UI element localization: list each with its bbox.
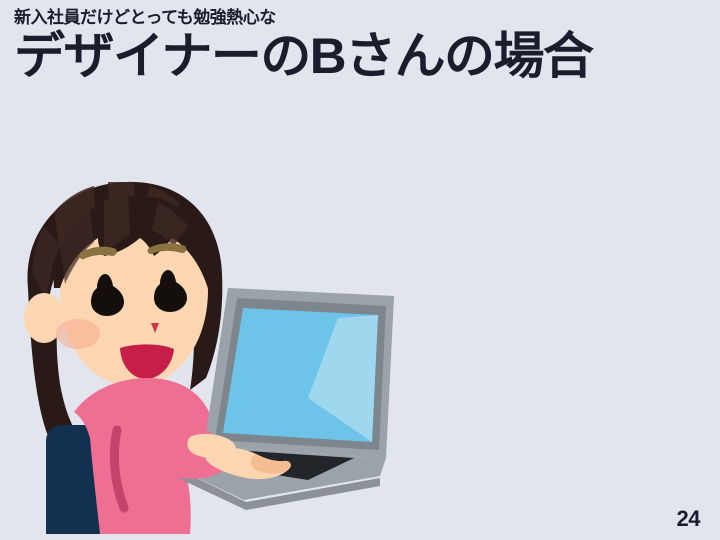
slide-subtitle: 新入社員だけどとっても勉強熱心な xyxy=(14,8,704,28)
slide-title: デザイナーのBさんの場合 xyxy=(14,30,718,83)
cheek-blush-left xyxy=(56,319,100,349)
woman-using-laptop-illustration xyxy=(8,168,408,536)
page-number: 24 xyxy=(677,506,700,532)
slide-header: 新入社員だけどとっても勉強熱心な デザイナーのBさんの場合 xyxy=(14,8,704,83)
slide-canvas: 新入社員だけどとっても勉強熱心な デザイナーのBさんの場合 xyxy=(0,0,720,540)
